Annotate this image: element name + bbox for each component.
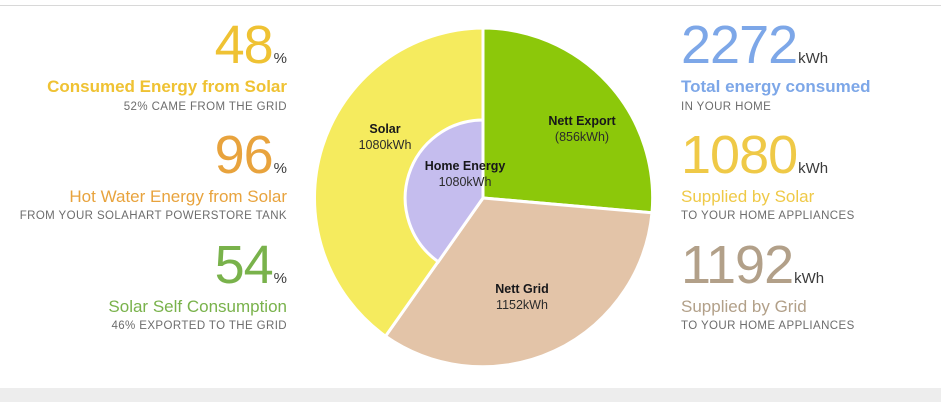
metric-value: 1192 xyxy=(681,235,793,295)
metric-unit: kWh xyxy=(798,160,828,177)
metric-title: Solar Self Consumption xyxy=(0,297,287,317)
pie-slice-nett-export[interactable] xyxy=(483,28,653,213)
metric-value: 54 xyxy=(215,235,273,295)
metric-supplied-by-grid: 1192kWh Supplied by Grid TO YOUR HOME AP… xyxy=(681,238,941,334)
metric-total-energy-consumed: 2272kWh Total energy consumed IN YOUR HO… xyxy=(681,18,941,114)
metric-subtitle: TO YOUR HOME APPLIANCES xyxy=(681,320,941,333)
metric-unit: % xyxy=(274,270,287,287)
metric-value-row: 48% xyxy=(0,18,287,72)
metric-value-row: 96% xyxy=(0,128,287,182)
metric-subtitle: TO YOUR HOME APPLIANCES xyxy=(681,210,941,223)
metric-unit: % xyxy=(274,50,287,67)
metric-consumed-energy-from-solar: 48% Consumed Energy from Solar 52% CAME … xyxy=(0,18,287,114)
metric-value-row: 1080kWh xyxy=(681,128,941,182)
metric-unit: kWh xyxy=(794,270,824,287)
metric-subtitle: FROM YOUR SOLAHART POWERSTORE TANK xyxy=(0,210,287,223)
top-divider xyxy=(0,5,941,6)
footer-band xyxy=(0,388,941,402)
left-metrics-column: 48% Consumed Energy from Solar 52% CAME … xyxy=(0,18,287,339)
metric-title: Supplied by Solar xyxy=(681,187,941,207)
metric-title: Supplied by Grid xyxy=(681,297,941,317)
metric-subtitle: IN YOUR HOME xyxy=(681,101,941,114)
metric-value-row: 54% xyxy=(0,238,287,292)
metric-hot-water-energy-from-solar: 96% Hot Water Energy from Solar FROM YOU… xyxy=(0,128,287,224)
metric-value-row: 2272kWh xyxy=(681,18,941,72)
energy-summary-panel: 48% Consumed Energy from Solar 52% CAME … xyxy=(0,0,941,402)
energy-flow-pie-chart: Solar 1080kWh Home Energy 1080kWh Nett E… xyxy=(302,14,662,374)
metric-subtitle: 52% CAME FROM THE GRID xyxy=(0,101,287,114)
metric-solar-self-consumption: 54% Solar Self Consumption 46% EXPORTED … xyxy=(0,238,287,334)
metric-title: Total energy consumed xyxy=(681,77,941,97)
metric-value: 48 xyxy=(215,15,273,75)
metric-value: 2272 xyxy=(681,15,797,75)
metric-supplied-by-solar: 1080kWh Supplied by Solar TO YOUR HOME A… xyxy=(681,128,941,224)
metric-value: 1080 xyxy=(681,125,797,185)
metric-value: 96 xyxy=(215,125,273,185)
metric-unit: kWh xyxy=(798,50,828,67)
metric-unit: % xyxy=(274,160,287,177)
metric-subtitle: 46% EXPORTED TO THE GRID xyxy=(0,320,287,333)
metric-title: Hot Water Energy from Solar xyxy=(0,187,287,207)
right-metrics-column: 2272kWh Total energy consumed IN YOUR HO… xyxy=(681,18,941,339)
metric-title: Consumed Energy from Solar xyxy=(0,77,287,97)
metric-value-row: 1192kWh xyxy=(681,238,941,292)
pie-svg xyxy=(302,14,662,374)
